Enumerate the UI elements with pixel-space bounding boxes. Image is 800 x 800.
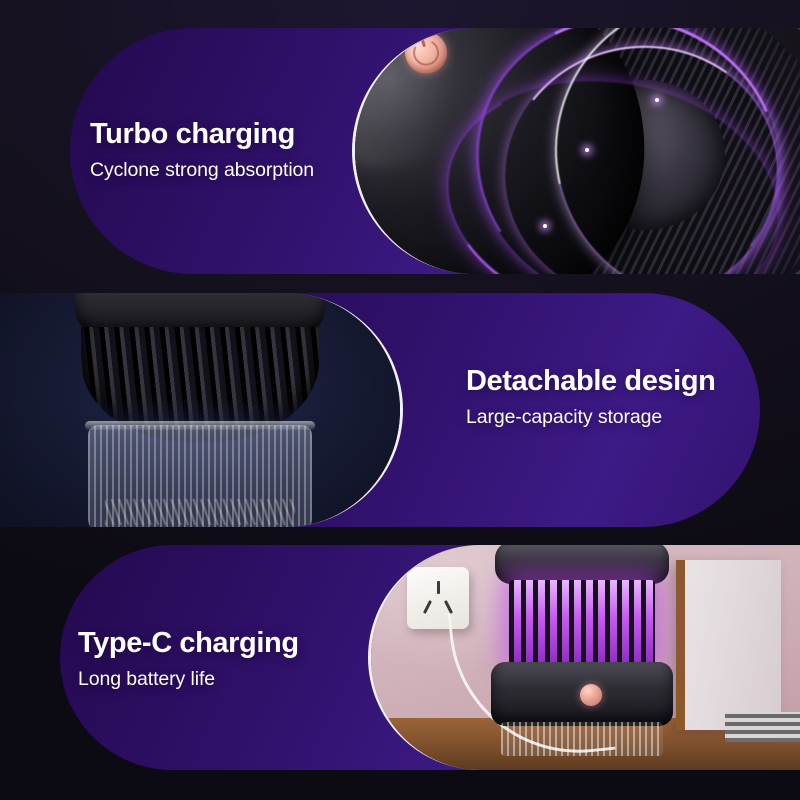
panel-subtitle: Long battery life <box>78 668 299 691</box>
outlet-slot <box>423 600 432 614</box>
power-button-icon <box>580 684 602 706</box>
panel-title: Type-C charging <box>78 627 299 659</box>
stacked-books <box>725 712 800 742</box>
cup-rim <box>85 421 315 430</box>
uv-light-core <box>509 580 655 666</box>
feature-panel-detachable-design: Detachable design Large-capacity storage <box>0 293 800 527</box>
storage-cup <box>88 425 312 527</box>
panel-subtitle: Cyclone strong absorption <box>90 159 314 182</box>
light-sparkle <box>585 148 589 152</box>
infographic-canvas: Turbo charging Cyclone strong absorption… <box>0 0 800 800</box>
light-sparkle <box>655 98 659 102</box>
panel-copy: Detachable design Large-capacity storage <box>466 365 715 430</box>
collected-debris <box>105 499 295 525</box>
outlet-slot <box>437 581 440 594</box>
lamp-top-cap <box>495 545 669 584</box>
picture-frame <box>676 560 781 730</box>
light-sparkle <box>543 224 547 228</box>
lamp-storage-cup <box>501 722 663 756</box>
feature-panel-type-c-charging: Type-C charging Long battery life <box>0 545 800 770</box>
panel-subtitle: Large-capacity storage <box>466 406 715 429</box>
panel-title: Detachable design <box>466 365 715 397</box>
product-photo-turbo-charging <box>352 28 800 274</box>
outlet-slot <box>444 600 453 614</box>
mosquito-lamp <box>489 545 675 752</box>
feature-panel-turbo-charging: Turbo charging Cyclone strong absorption <box>0 28 800 274</box>
product-photo-detachable-design <box>0 293 403 527</box>
panel-title: Turbo charging <box>90 118 314 150</box>
product-photo-type-c-charging <box>368 545 800 770</box>
panel-copy: Turbo charging Cyclone strong absorption <box>90 118 314 183</box>
panel-copy: Type-C charging Long battery life <box>78 627 299 692</box>
power-symbol-glyph <box>410 36 442 68</box>
